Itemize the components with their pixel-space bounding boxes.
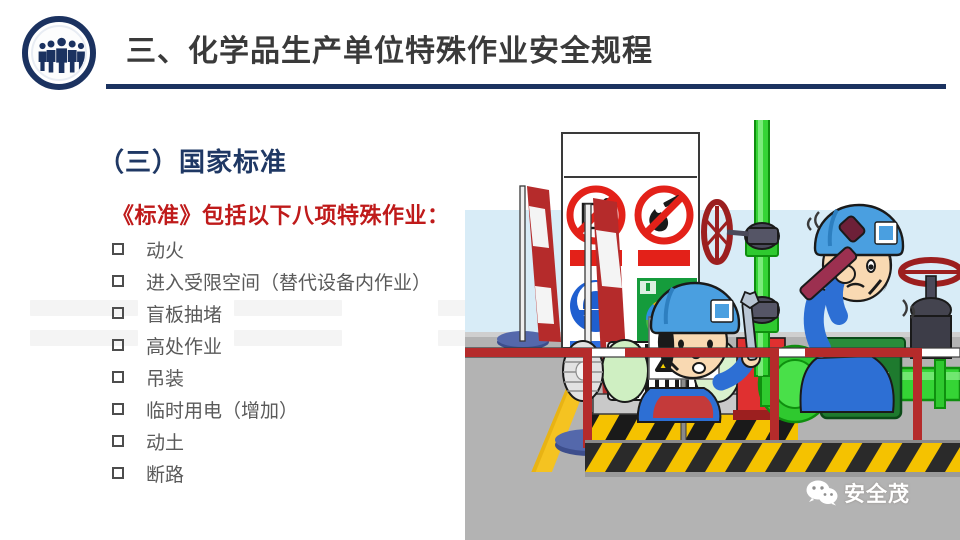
list-item: 动火 <box>112 236 472 268</box>
square-bullet-icon <box>112 243 124 255</box>
list-item: 动土 <box>112 428 472 460</box>
logo-inner-circle <box>31 25 87 81</box>
prohibition-label-bar-2 <box>638 250 690 266</box>
section-subtitle: 《标准》包括以下八项特殊作业： <box>112 198 450 230</box>
header-divider <box>106 84 946 89</box>
square-bullet-icon <box>112 275 124 287</box>
section-heading: （三）国家标准 <box>98 142 287 179</box>
people-group-icon <box>37 37 87 73</box>
wechat-watermark-text: 安全茂 <box>844 478 910 508</box>
square-bullet-icon <box>112 467 124 479</box>
people-group-logo <box>22 16 96 90</box>
list-item-label: 动火 <box>146 236 184 263</box>
list-item: 进入受限空间（替代设备内作业） <box>112 268 472 300</box>
list-item-label: 动土 <box>146 428 184 455</box>
square-bullet-icon <box>112 435 124 447</box>
list-item: 高处作业 <box>112 332 472 364</box>
list-item-label: 进入受限空间（替代设备内作业） <box>146 268 431 295</box>
list-item: 断路 <box>112 460 472 492</box>
list-item-label: 高处作业 <box>146 332 222 359</box>
list-item-label: 盲板抽堵 <box>146 300 222 327</box>
slide-canvas: 三、化学品生产单位特殊作业安全规程 （三）国家标准 《标准》包括以下八项特殊作业… <box>0 0 960 540</box>
list-item-label: 吊装 <box>146 364 184 391</box>
square-bullet-icon <box>112 307 124 319</box>
wechat-icon <box>806 480 838 506</box>
list-item-label: 断路 <box>146 460 184 487</box>
list-item: 盲板抽堵 <box>112 300 472 332</box>
special-operations-list: 动火 进入受限空间（替代设备内作业） 盲板抽堵 高处作业 吊装 临时用电（增加）… <box>112 236 472 492</box>
illustration-svg <box>465 120 960 540</box>
list-item: 吊装 <box>112 364 472 396</box>
floor-hazard-band <box>585 440 960 472</box>
slide-header: 三、化学品生产单位特殊作业安全规程 <box>0 0 960 100</box>
list-item-label: 临时用电（增加） <box>146 396 298 423</box>
safety-illustration <box>465 120 960 540</box>
prohibition-sign-2 <box>638 189 690 241</box>
square-bullet-icon <box>112 371 124 383</box>
square-bullet-icon <box>112 403 124 415</box>
list-item: 临时用电（增加） <box>112 396 472 428</box>
wechat-watermark: 安全茂 <box>806 478 910 508</box>
square-bullet-icon <box>112 339 124 351</box>
page-title: 三、化学品生产单位特殊作业安全规程 <box>126 26 653 70</box>
